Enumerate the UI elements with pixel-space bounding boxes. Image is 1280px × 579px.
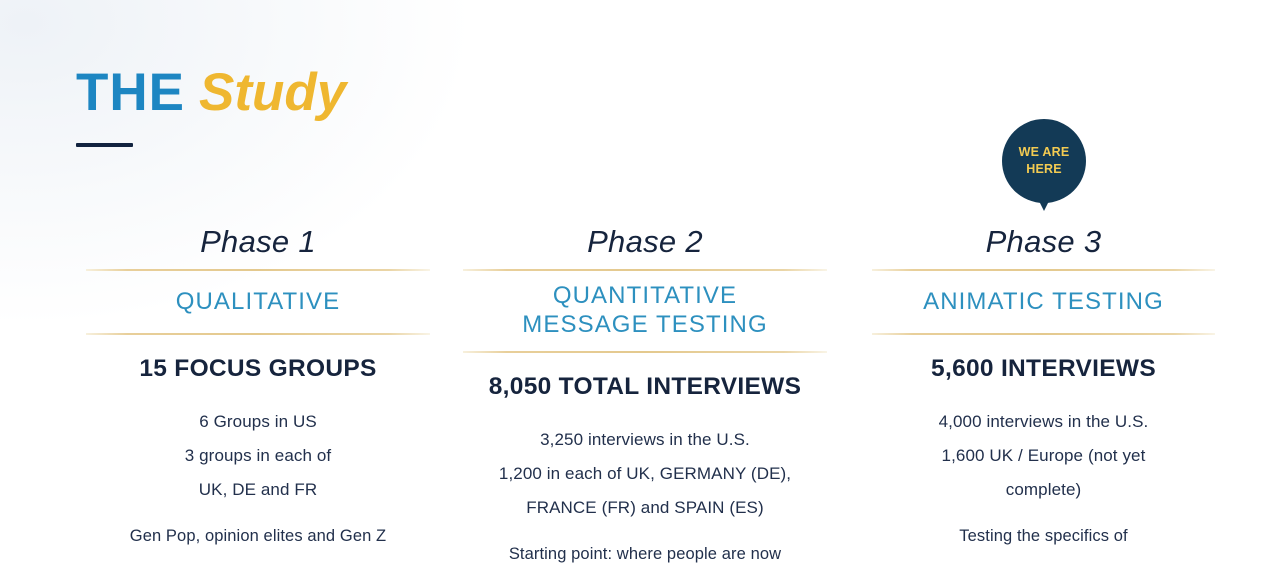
page-title-line: THEStudy — [76, 62, 346, 124]
phase-3-name: Phase 3 — [872, 222, 1215, 269]
phase-3-detail-line: 4,000 interviews in the U.S. — [872, 405, 1215, 439]
page-title-the: THE — [76, 63, 185, 122]
we-are-here-line-1: WE ARE — [1019, 145, 1070, 160]
phase-1-headline: 15 FOCUS GROUPS — [86, 335, 430, 385]
phase-1-name: Phase 1 — [86, 222, 430, 269]
slide-canvas: THEStudy WE ARE HERE Phase 1 QUALITATIVE… — [0, 0, 1280, 579]
phase-1-detail-line: 3 groups in each of — [86, 439, 430, 473]
we-are-here-label: WE ARE HERE — [1002, 119, 1086, 203]
we-are-here-line-2: HERE — [1026, 162, 1062, 177]
title-underline-rule — [76, 143, 133, 147]
phase-2-detail-line: FRANCE (FR) and SPAIN (ES) — [463, 491, 827, 525]
phase-3-headline: 5,600 INTERVIEWS — [872, 335, 1215, 385]
phase-3-detail-line: complete) — [872, 473, 1215, 507]
phase-1-details: 6 Groups in US 3 groups in each of UK, D… — [86, 385, 430, 507]
phase-3-details: 4,000 interviews in the U.S. 1,600 UK / … — [872, 385, 1215, 507]
phase-3-method: ANIMATIC TESTING — [872, 271, 1215, 333]
phase-2-name: Phase 2 — [463, 222, 827, 269]
phase-3-detail-line: 1,600 UK / Europe (not yet — [872, 439, 1215, 473]
phase-3-note: Testing the specifics of — [872, 507, 1215, 549]
we-are-here-marker: WE ARE HERE — [1002, 119, 1086, 203]
phase-2-headline: 8,050 TOTAL INTERVIEWS — [463, 353, 827, 403]
phase-2-note: Starting point: where people are now — [463, 525, 827, 567]
phase-1-method: QUALITATIVE — [86, 271, 430, 333]
page-title: THEStudy — [76, 62, 346, 124]
phase-2-details: 3,250 interviews in the U.S. 1,200 in ea… — [463, 403, 827, 525]
phase-column-3: Phase 3 ANIMATIC TESTING 5,600 INTERVIEW… — [872, 222, 1215, 567]
phase-1-detail-line: UK, DE and FR — [86, 473, 430, 507]
phase-column-2: Phase 2 QUANTITATIVE MESSAGE TESTING 8,0… — [463, 222, 827, 567]
phase-2-method: QUANTITATIVE MESSAGE TESTING — [463, 271, 827, 351]
phase-2-detail-line: 3,250 interviews in the U.S. — [463, 423, 827, 457]
phase-1-detail-line: 6 Groups in US — [86, 405, 430, 439]
phases-row: Phase 1 QUALITATIVE 15 FOCUS GROUPS 6 Gr… — [0, 222, 1280, 567]
page-title-study: Study — [199, 63, 346, 122]
phase-column-1: Phase 1 QUALITATIVE 15 FOCUS GROUPS 6 Gr… — [86, 222, 430, 567]
phase-2-detail-line: 1,200 in each of UK, GERMANY (DE), — [463, 457, 827, 491]
phase-1-note: Gen Pop, opinion elites and Gen Z — [86, 507, 430, 549]
